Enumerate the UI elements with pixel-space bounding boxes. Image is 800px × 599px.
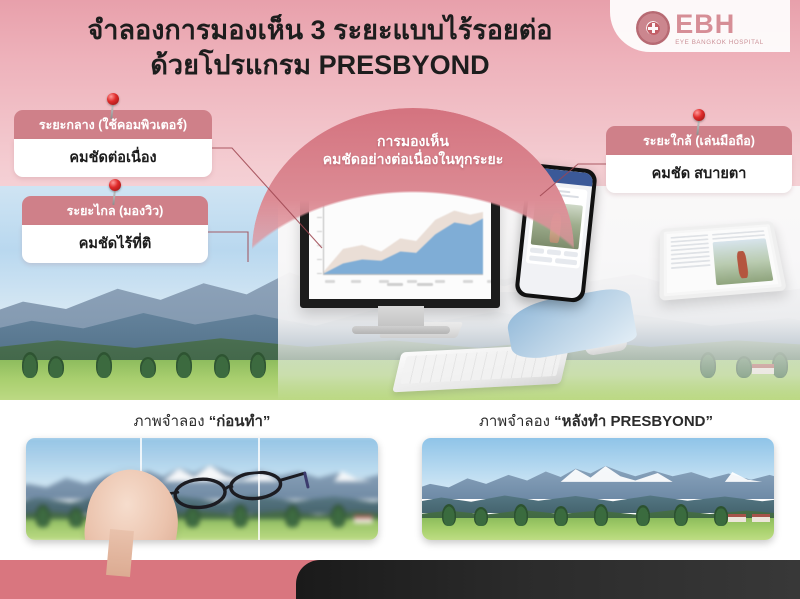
callout-intermediate-distance[interactable]: ระยะกลาง (ใช้คอมพิวเตอร์) คมชัดต่อเนื่อง: [14, 110, 212, 177]
tablet: [659, 221, 786, 301]
after-image: [422, 438, 774, 540]
tree: [22, 352, 38, 378]
before-image: [26, 438, 378, 540]
callout-body: คมชัดต่อเนื่อง: [14, 139, 212, 177]
logo-tagline: EYE BANGKOK HOSPITAL: [675, 40, 764, 46]
infographic-poster: EBH EYE BANGKOK HOSPITAL จำลองการมองเห็น…: [0, 0, 800, 599]
bottom-bar: [0, 560, 800, 599]
red-pushpin-icon: [693, 109, 705, 135]
arc-caption-line-1: การมองเห็น: [252, 133, 574, 151]
red-pushpin-icon: [107, 93, 119, 119]
before-caption-prefix: ภาพจำลอง: [134, 413, 209, 430]
model-leg: [106, 529, 134, 577]
poster-title: จำลองการมองเห็น 3 ระยะแบบไร้รอยต่อ ด้วยโ…: [0, 14, 640, 83]
tree: [96, 352, 112, 378]
callout-body: คมชัดไร้ที่ติ: [22, 225, 208, 263]
tree: [250, 352, 266, 378]
arc-caption: การมองเห็น คมชัดอย่างต่อเนื่องในทุกระยะ: [252, 133, 574, 169]
callout-near-distance[interactable]: ระยะใกล้ (เล่นมือถือ) คมชัด สบายตา: [606, 126, 792, 193]
tablet-article-photo: [713, 238, 774, 285]
tree: [140, 357, 156, 378]
callout-far-distance[interactable]: ระยะไกล (มองวิว) คมชัดไร้ที่ติ: [22, 196, 208, 263]
bottom-bar-black: [296, 560, 800, 599]
callout-body: คมชัด สบายตา: [606, 155, 792, 193]
tree: [176, 352, 192, 378]
title-line-2: ด้วยโปรแกรม PRESBYOND: [0, 48, 640, 83]
logo-wordmark: EBH: [675, 11, 764, 38]
tree: [214, 354, 230, 378]
after-caption-quote: “หลังทำ PRESBYOND”: [554, 413, 713, 430]
after-caption: ภาพจำลอง “หลังทำ PRESBYOND”: [406, 409, 786, 433]
red-pushpin-icon: [109, 179, 121, 205]
after-caption-prefix: ภาพจำลอง: [479, 413, 554, 430]
tree: [48, 356, 64, 378]
arc-caption-line-2: คมชัดอย่างต่อเนื่องในทุกระยะ: [252, 151, 574, 169]
tablet-screen: [667, 227, 779, 293]
eye-cross-icon: [636, 11, 670, 45]
title-line-1: จำลองการมองเห็น 3 ระยะแบบไร้รอยต่อ: [0, 14, 640, 48]
before-caption: ภาพจำลอง “ก่อนทำ”: [12, 409, 392, 433]
before-caption-quote: “ก่อนทำ”: [209, 413, 271, 430]
